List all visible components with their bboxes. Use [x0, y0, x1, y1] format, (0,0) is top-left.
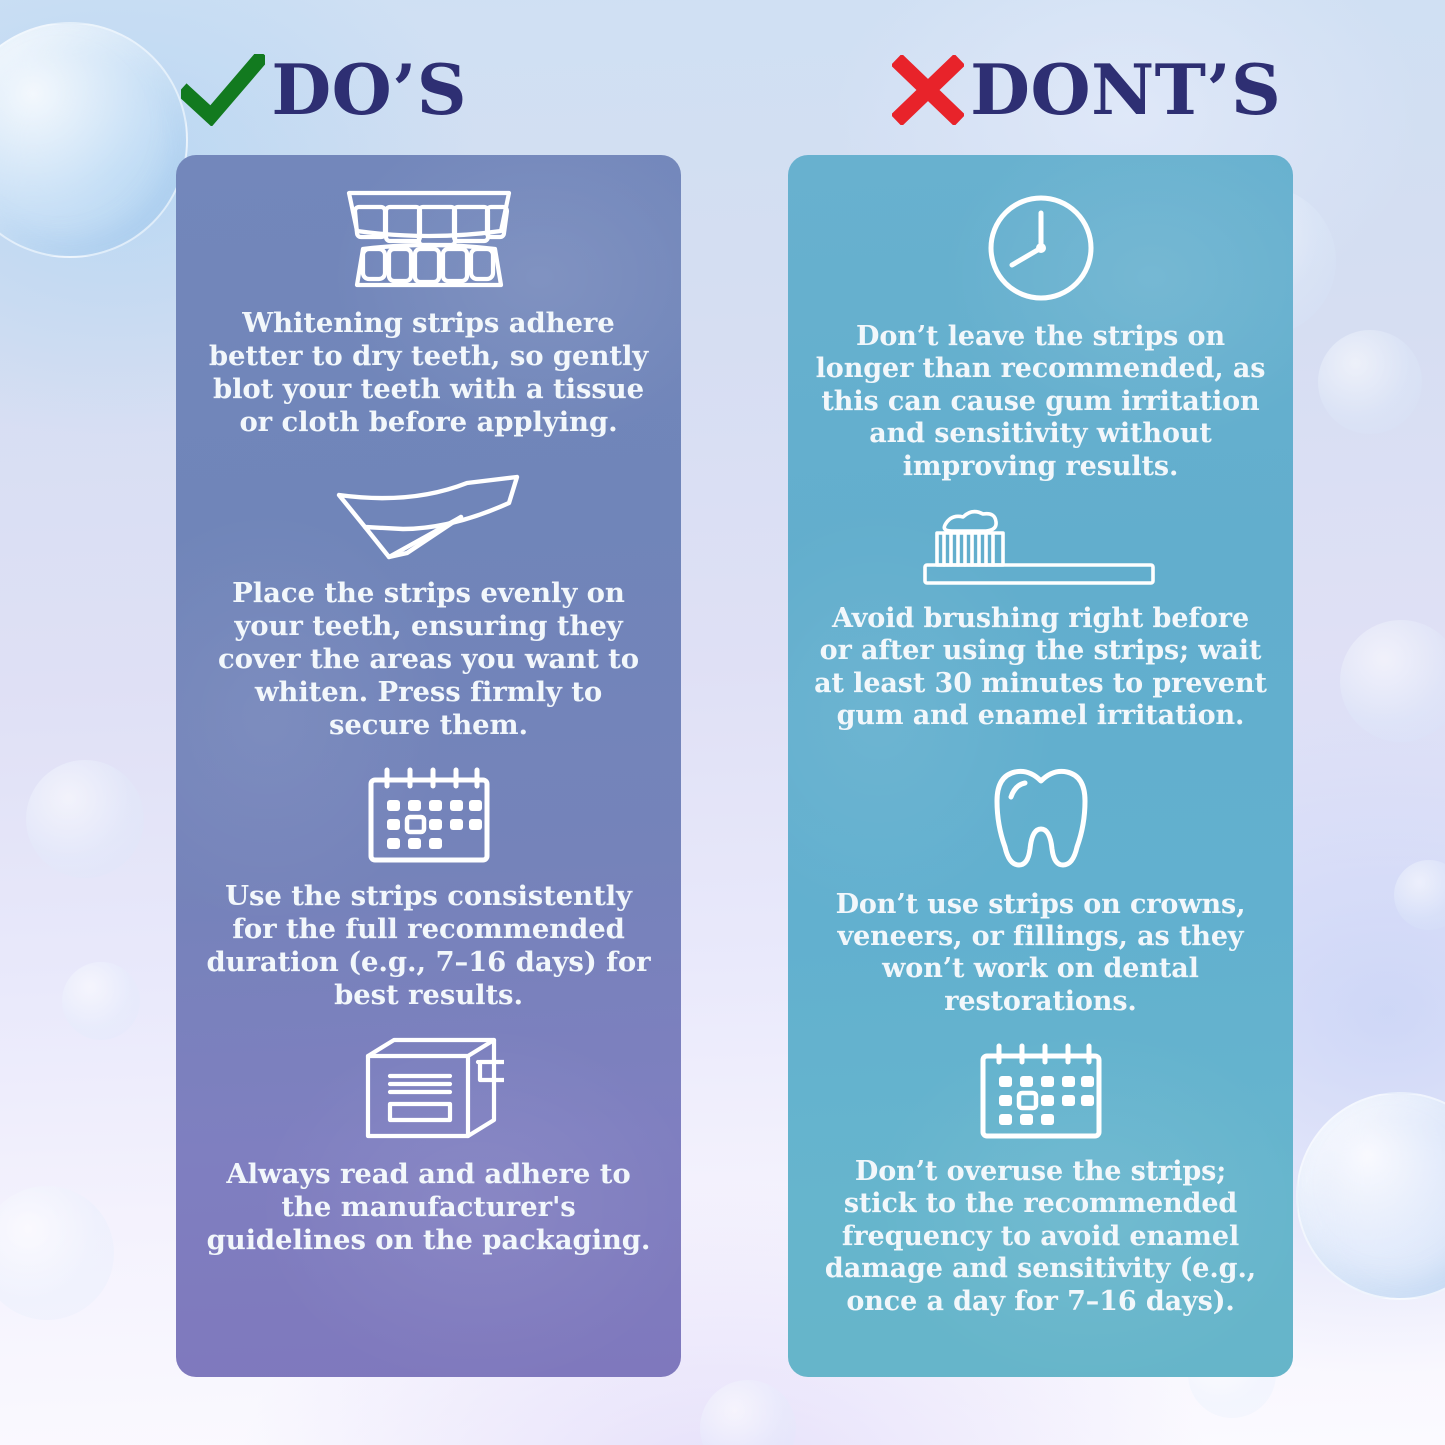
- dos-item-2: Place the strips evenly on your teeth, e…: [198, 471, 659, 742]
- donts-item-3-text: Don’t use strips on crowns, veneers, or …: [810, 889, 1271, 1019]
- teeth-icon: [341, 185, 517, 293]
- calendar-icon: [361, 766, 497, 866]
- donts-item-4-text: Don’t overuse the strips; stick to the r…: [810, 1156, 1271, 1318]
- donts-item-2-text: Avoid brushing right before or after usi…: [810, 603, 1271, 733]
- dos-header: DO’S: [0, 54, 723, 126]
- donts-header: DONT’S: [723, 54, 1445, 126]
- dos-item-3-text: Use the strips consistently for the full…: [198, 880, 659, 1012]
- donts-item-3: Don’t use strips on crowns, veneers, or …: [810, 763, 1271, 1019]
- donts-item-1: Don’t leave the strips on longer than re…: [810, 189, 1271, 483]
- donts-item-4: Don’t overuse the strips; stick to the r…: [810, 1042, 1271, 1318]
- calendar-icon: [973, 1042, 1109, 1142]
- donts-panel: Don’t leave the strips on longer than re…: [788, 155, 1293, 1377]
- toothbrush-icon: [921, 509, 1161, 589]
- dos-panel: Whitening strips adhere better to dry te…: [176, 155, 681, 1377]
- dos-item-1-text: Whitening strips adhere better to dry te…: [198, 307, 659, 439]
- panels-row: Whitening strips adhere better to dry te…: [0, 155, 1445, 1377]
- dos-item-4: Always read and adhere to the manufactur…: [198, 1034, 659, 1257]
- whitening-strip-icon: [331, 471, 527, 563]
- tooth-icon: [989, 763, 1093, 875]
- dos-item-4-text: Always read and adhere to the manufactur…: [198, 1158, 659, 1257]
- donts-header-label: DONT’S: [970, 56, 1281, 125]
- dos-item-3: Use the strips consistently for the full…: [198, 766, 659, 1012]
- check-icon: [181, 54, 265, 126]
- dos-item-1: Whitening strips adhere better to dry te…: [198, 185, 659, 439]
- package-box-icon: [354, 1034, 504, 1144]
- headers-row: DO’S DONT’S: [0, 54, 1445, 126]
- infographic-canvas: DO’S DONT’S: [0, 0, 1445, 1445]
- clock-icon: [982, 189, 1100, 307]
- donts-item-2: Avoid brushing right before or after usi…: [810, 509, 1271, 733]
- dos-header-label: DO’S: [271, 56, 467, 125]
- donts-item-1-text: Don’t leave the strips on longer than re…: [810, 321, 1271, 483]
- dos-item-2-text: Place the strips evenly on your teeth, e…: [198, 577, 659, 742]
- cross-icon: [892, 55, 964, 125]
